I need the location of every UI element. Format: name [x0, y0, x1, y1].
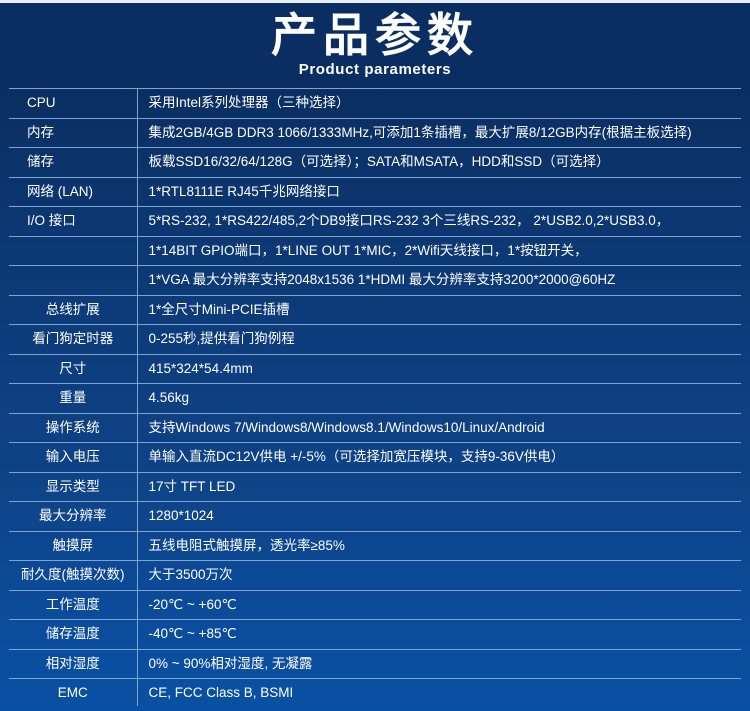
spec-label-cell: 储存 — [9, 148, 137, 178]
page-header: 产品参数 Product parameters — [0, 3, 750, 88]
spec-label-cell — [9, 236, 137, 266]
spec-value-cell: 大于3500万次 — [137, 561, 741, 591]
table-row: 1*VGA 最大分辨率支持2048x1536 1*HDMI 最大分辨率支持320… — [9, 266, 741, 296]
spec-value-cell: 支持Windows 7/Windows8/Windows8.1/Windows1… — [137, 413, 741, 443]
spec-label-cell: 耐久度(触摸次数) — [9, 561, 137, 591]
table-row: 显示类型17寸 TFT LED — [9, 472, 741, 502]
spec-value-cell: -40℃ ~ +85℃ — [137, 620, 741, 650]
table-row: 储存温度-40℃ ~ +85℃ — [9, 620, 741, 650]
spec-value-cell: 板载SSD16/32/64/128G（可选择）；SATA和MSATA，HDD和S… — [137, 148, 741, 178]
spec-label-cell: 显示类型 — [9, 472, 137, 502]
spec-value-cell: 0% ~ 90%相对湿度, 无凝露 — [137, 649, 741, 679]
spec-label-cell: 操作系统 — [9, 413, 137, 443]
spec-value-cell: 1*全尺寸Mini-PCIE插槽 — [137, 295, 741, 325]
spec-value-cell: 0-255秒,提供看门狗例程 — [137, 325, 741, 355]
bottom-edge-strip — [0, 706, 750, 711]
spec-value-cell: 五线电阻式触摸屏，透光率≥85% — [137, 531, 741, 561]
table-row: 操作系统支持Windows 7/Windows8/Windows8.1/Wind… — [9, 413, 741, 443]
page-title-english: Product parameters — [0, 60, 750, 80]
spec-value-cell: 单输入直流DC12V供电 +/-5%（可选择加宽压模块，支持9-36V供电） — [137, 443, 741, 473]
spec-value-cell: -20℃ ~ +60℃ — [137, 590, 741, 620]
spec-value-cell: 4.56kg — [137, 384, 741, 414]
table-row: I/O 接口5*RS-232, 1*RS422/485,2个DB9接口RS-23… — [9, 207, 741, 237]
table-row: 最大分辨率1280*1024 — [9, 502, 741, 532]
table-row: 看门狗定时器0-255秒,提供看门狗例程 — [9, 325, 741, 355]
table-row: 相对湿度0% ~ 90%相对湿度, 无凝露 — [9, 649, 741, 679]
spec-label-cell: 尺寸 — [9, 354, 137, 384]
table-row: EMCCE, FCC Class B, BSMI — [9, 679, 741, 709]
page-title-chinese: 产品参数 — [0, 8, 750, 62]
spec-label-cell: 工作温度 — [9, 590, 137, 620]
spec-value-cell: 1*VGA 最大分辨率支持2048x1536 1*HDMI 最大分辨率支持320… — [137, 266, 741, 296]
spec-label-cell: 内存 — [9, 118, 137, 148]
table-row: 总线扩展1*全尺寸Mini-PCIE插槽 — [9, 295, 741, 325]
spec-label-cell: 相对湿度 — [9, 649, 137, 679]
spec-label-cell: 触摸屏 — [9, 531, 137, 561]
spec-value-cell: CE, FCC Class B, BSMI — [137, 679, 741, 709]
spec-label-cell: 最大分辨率 — [9, 502, 137, 532]
table-row: 触摸屏五线电阻式触摸屏，透光率≥85% — [9, 531, 741, 561]
spec-value-cell: 采用Intel系列处理器（三种选择） — [137, 89, 741, 119]
table-row: 储存板载SSD16/32/64/128G（可选择）；SATA和MSATA，HDD… — [9, 148, 741, 178]
spec-value-cell: 415*324*54.4mm — [137, 354, 741, 384]
spec-value-cell: 1280*1024 — [137, 502, 741, 532]
table-row: 重量4.56kg — [9, 384, 741, 414]
table-row: CPU采用Intel系列处理器（三种选择） — [9, 89, 741, 119]
spec-label-cell: 网络 (LAN) — [9, 177, 137, 207]
spec-label-cell: 总线扩展 — [9, 295, 137, 325]
table-row: 网络 (LAN)1*RTL8111E RJ45千兆网络接口 — [9, 177, 741, 207]
spec-value-cell: 17寸 TFT LED — [137, 472, 741, 502]
table-row: 耐久度(触摸次数)大于3500万次 — [9, 561, 741, 591]
spec-value-cell: 1*14BIT GPIO端口，1*LINE OUT 1*MIC，2*Wifi天线… — [137, 236, 741, 266]
spec-value-cell: 5*RS-232, 1*RS422/485,2个DB9接口RS-232 3个三线… — [137, 207, 741, 237]
spec-label-cell: 储存温度 — [9, 620, 137, 650]
spec-label-cell: I/O 接口 — [9, 207, 137, 237]
table-row: 1*14BIT GPIO端口，1*LINE OUT 1*MIC，2*Wifi天线… — [9, 236, 741, 266]
table-row: 输入电压单输入直流DC12V供电 +/-5%（可选择加宽压模块，支持9-36V供… — [9, 443, 741, 473]
spec-label-cell: 重量 — [9, 384, 137, 414]
spec-label-cell: 看门狗定时器 — [9, 325, 137, 355]
spec-label-cell: EMC — [9, 679, 137, 709]
table-row: 内存集成2GB/4GB DDR3 1066/1333MHz,可添加1条插槽，最大… — [9, 118, 741, 148]
table-row: 工作温度-20℃ ~ +60℃ — [9, 590, 741, 620]
spec-label-cell — [9, 266, 137, 296]
spec-label-cell: CPU — [9, 89, 137, 119]
specification-table: CPU采用Intel系列处理器（三种选择）内存集成2GB/4GB DDR3 10… — [9, 88, 741, 711]
spec-label-cell: 输入电压 — [9, 443, 137, 473]
table-row: 尺寸415*324*54.4mm — [9, 354, 741, 384]
product-parameters-page: 产品参数 Product parameters CPU采用Intel系列处理器（… — [0, 0, 750, 711]
specification-table-body: CPU采用Intel系列处理器（三种选择）内存集成2GB/4GB DDR3 10… — [9, 89, 741, 711]
spec-value-cell: 1*RTL8111E RJ45千兆网络接口 — [137, 177, 741, 207]
spec-value-cell: 集成2GB/4GB DDR3 1066/1333MHz,可添加1条插槽，最大扩展… — [137, 118, 741, 148]
